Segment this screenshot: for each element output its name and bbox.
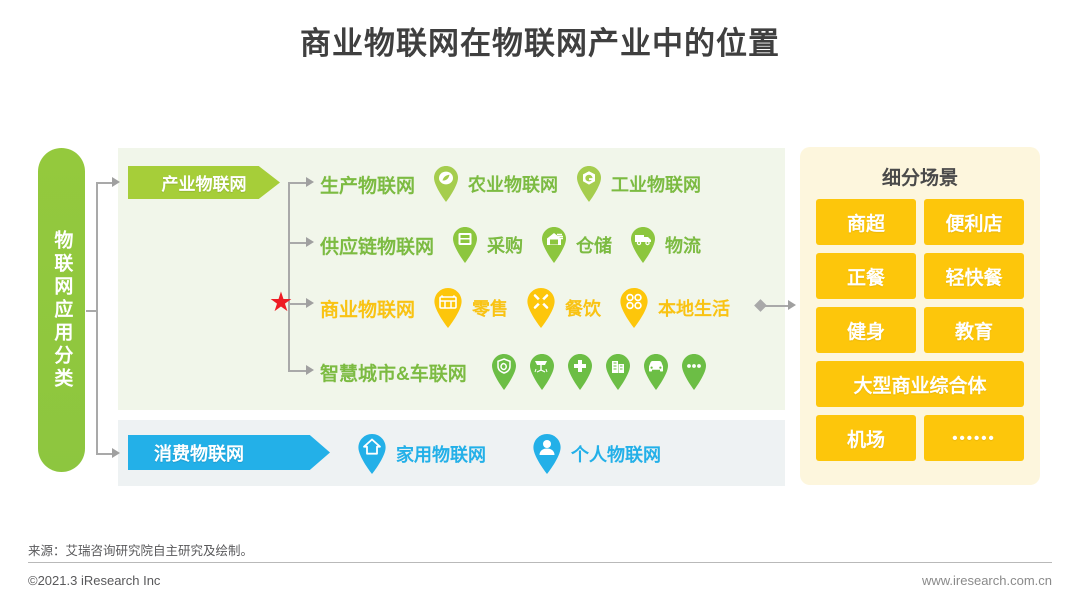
arrow-row-1 bbox=[306, 177, 314, 187]
item-logistics[interactable]: 物流 bbox=[628, 226, 701, 264]
item-smartcity-more[interactable] bbox=[679, 353, 709, 391]
item-purchase-label: 采购 bbox=[487, 232, 523, 258]
item-agriculture-iot[interactable]: 农业物联网 bbox=[431, 165, 558, 203]
warehouse-pin-icon bbox=[539, 226, 569, 264]
scene-tile-fast-food[interactable]: 轻快餐 bbox=[924, 253, 1024, 299]
slide-canvas: 商业物联网在物联网产业中的位置 物联网应用分类 产业物联网 生产物联网 农业物联… bbox=[0, 0, 1080, 606]
building-pin-icon bbox=[603, 353, 633, 391]
left-axis-pill: 物联网应用分类 bbox=[38, 148, 85, 472]
item-agriculture-label: 农业物联网 bbox=[468, 171, 558, 197]
scene-tile-education[interactable]: 教育 bbox=[924, 307, 1024, 353]
row-consumer-items[interactable]: 家用物联网 个人物联网 bbox=[355, 433, 661, 475]
banner-industrial-label: 产业物联网 bbox=[162, 170, 247, 195]
scene-tile-fitness[interactable]: 健身 bbox=[816, 307, 916, 353]
item-smartcity-security[interactable] bbox=[489, 353, 519, 391]
arrow-to-industrial-banner bbox=[112, 177, 120, 187]
row-production-label: 生产物联网 bbox=[320, 171, 415, 198]
left-axis-label: 物联网应用分类 bbox=[51, 230, 73, 391]
streetlight-pin-icon bbox=[527, 353, 557, 391]
item-retail-label: 零售 bbox=[472, 295, 508, 321]
industrial-tree-branch-4 bbox=[288, 370, 308, 372]
industrial-tree-branch-2 bbox=[288, 242, 308, 244]
item-personal-label: 个人物联网 bbox=[571, 441, 661, 467]
gear-pin-icon bbox=[574, 165, 604, 203]
item-industrial-label: 工业物联网 bbox=[611, 171, 701, 197]
local-life-pin-icon bbox=[617, 287, 651, 329]
industrial-tree-branch-1 bbox=[288, 182, 308, 184]
banner-consumer-label: 消费物联网 bbox=[154, 440, 244, 466]
bracket-vertical-line bbox=[96, 182, 98, 454]
leaf-pin-icon bbox=[431, 165, 461, 203]
scenes-panel: 细分场景 商超 便利店 正餐 轻快餐 健身 教育 大型商业综合体 机场 ••••… bbox=[800, 147, 1040, 485]
row-commercial-label: 商业物联网 bbox=[320, 295, 415, 322]
item-home-label: 家用物联网 bbox=[396, 441, 486, 467]
scenes-tile-grid: 商超 便利店 正餐 轻快餐 健身 教育 大型商业综合体 机场 •••••• bbox=[816, 199, 1024, 461]
page-title: 商业物联网在物联网产业中的位置 bbox=[0, 18, 1080, 63]
banner-industrial-iot[interactable]: 产业物联网 bbox=[128, 166, 280, 199]
bracket-stem-line bbox=[86, 310, 98, 312]
scene-tile-airport[interactable]: 机场 bbox=[816, 415, 916, 461]
scene-tile-formal-dining[interactable]: 正餐 bbox=[816, 253, 916, 299]
item-smartcity-building[interactable] bbox=[603, 353, 633, 391]
item-smartcity-streetlight[interactable] bbox=[527, 353, 557, 391]
item-local-life-label: 本地生活 bbox=[658, 295, 730, 321]
copyright-text: ©2021.3 iResearch Inc bbox=[28, 573, 160, 588]
row-commercial-iot[interactable]: 商业物联网 零售 餐饮 本地生活 bbox=[320, 287, 730, 329]
source-note: 来源：艾瑞咨询研究院自主研究及绘制。 bbox=[28, 540, 253, 559]
arrow-row-4 bbox=[306, 365, 314, 375]
item-purchase[interactable]: 采购 bbox=[450, 226, 523, 264]
scene-tile-large-commercial-complex[interactable]: 大型商业综合体 bbox=[816, 361, 1024, 407]
item-catering-label: 餐饮 bbox=[565, 295, 601, 321]
arrow-to-consumer-banner bbox=[112, 448, 120, 458]
purchase-pin-icon bbox=[450, 226, 480, 264]
item-warehouse[interactable]: 仓储 bbox=[539, 226, 612, 264]
medical-cross-pin-icon bbox=[565, 353, 595, 391]
logistics-truck-pin-icon bbox=[628, 226, 658, 264]
shield-pin-icon bbox=[489, 353, 519, 391]
home-pin-icon bbox=[355, 433, 389, 475]
footer-divider bbox=[28, 562, 1052, 563]
row-supplychain-label: 供应链物联网 bbox=[320, 232, 434, 259]
row-supplychain-iot[interactable]: 供应链物联网 采购 仓储 物流 bbox=[320, 226, 701, 264]
scene-tile-supermarket[interactable]: 商超 bbox=[816, 199, 916, 245]
row-smartcity-iot[interactable]: 智慧城市&车联网 bbox=[320, 353, 709, 391]
item-personal-iot[interactable]: 个人物联网 bbox=[530, 433, 661, 475]
arrow-row-2 bbox=[306, 237, 314, 247]
item-catering[interactable]: 餐饮 bbox=[524, 287, 601, 329]
row-production-iot[interactable]: 生产物联网 农业物联网 工业物联网 bbox=[320, 165, 701, 203]
car-pin-icon bbox=[641, 353, 671, 391]
item-local-life[interactable]: 本地生活 bbox=[617, 287, 730, 329]
scene-tile-more[interactable]: •••••• bbox=[924, 415, 1024, 461]
arrow-to-scenes-panel bbox=[788, 300, 796, 310]
arrow-row-3 bbox=[306, 298, 314, 308]
website-url: www.iresearch.com.cn bbox=[922, 573, 1052, 588]
scenes-panel-title: 细分场景 bbox=[800, 163, 1040, 190]
ellipsis-pin-icon bbox=[679, 353, 709, 391]
row-smartcity-label: 智慧城市&车联网 bbox=[320, 359, 467, 386]
item-home-iot[interactable]: 家用物联网 bbox=[355, 433, 486, 475]
industrial-tree-vertical-line bbox=[288, 182, 290, 370]
cutlery-pin-icon bbox=[524, 287, 558, 329]
item-retail[interactable]: 零售 bbox=[431, 287, 508, 329]
item-logistics-label: 物流 bbox=[665, 232, 701, 258]
item-smartcity-car[interactable] bbox=[641, 353, 671, 391]
item-warehouse-label: 仓储 bbox=[576, 232, 612, 258]
highlight-star-icon: ★ bbox=[268, 289, 294, 315]
shop-pin-icon bbox=[431, 287, 465, 329]
person-pin-icon bbox=[530, 433, 564, 475]
item-industrial-iot[interactable]: 工业物联网 bbox=[574, 165, 701, 203]
banner-consumer-iot[interactable]: 消费物联网 bbox=[128, 435, 330, 470]
item-smartcity-medical[interactable] bbox=[565, 353, 595, 391]
scene-tile-convenience-store[interactable]: 便利店 bbox=[924, 199, 1024, 245]
